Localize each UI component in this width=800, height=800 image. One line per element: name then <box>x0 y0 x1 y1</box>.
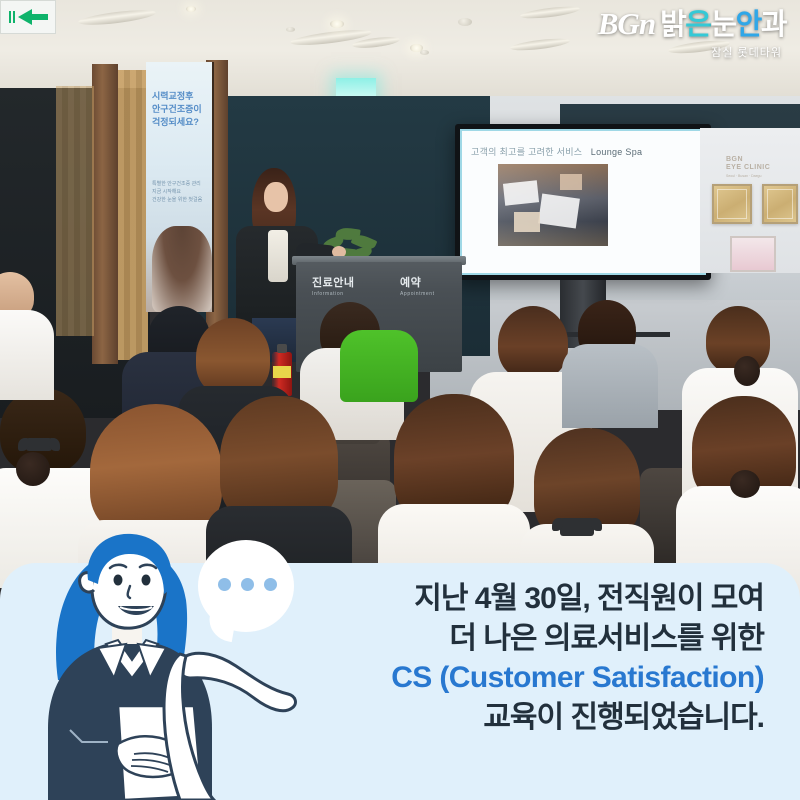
smoke-detector <box>420 50 429 55</box>
downlight <box>186 6 196 12</box>
presentation-slide: 고객의 최고를 고려한 서비스 Lounge Spa <box>460 129 706 275</box>
poster-headline: 시력교정후안구건조증이걱정되세요? <box>152 90 210 129</box>
hair-ribbon <box>26 438 52 451</box>
award-wall: BGN EYE CLINIC Seoul · Busan · Daegu <box>700 128 800 273</box>
exit-sign <box>0 0 56 34</box>
caption-line-2: 더 나은 의료서비스를 위한 <box>391 619 764 659</box>
award-brand-sub: Seoul · Busan · Daegu <box>726 174 761 178</box>
logo-name-korean: 밝은눈안과 <box>660 11 786 40</box>
wood-column <box>92 64 118 364</box>
caption-text-block: 지난 4월 30일, 전직원이 모여 더 나은 의료서비스를 위한 CS (Cu… <box>391 579 764 737</box>
eye-right <box>142 575 151 586</box>
downlight <box>330 20 344 28</box>
audience-head <box>498 306 568 380</box>
slide-shape <box>538 194 580 229</box>
slide-title: 고객의 최고를 고려한 서비스 Lounge Spa <box>471 145 696 158</box>
caption-line-4: 교육이 진행되었습니다. <box>391 698 764 738</box>
slide-shape <box>503 180 539 205</box>
caption-line-1: 지난 4월 30일, 전직원이 모여 <box>391 579 764 619</box>
logo-brandmark: BGn <box>598 8 655 39</box>
podium-sign-information: 진료안내 Information <box>312 274 354 297</box>
audience-head <box>196 318 270 396</box>
caption-line-3-accent: CS (Customer Satisfaction) <box>391 658 764 698</box>
audience-body <box>562 344 658 428</box>
award-plaque <box>762 184 798 224</box>
audience-head <box>90 404 222 538</box>
social-card: 시력교정후안구건조증이걱정되세요? 특별한 안구건조증 관리지금 시작해요건강한… <box>0 0 800 800</box>
slide-title-kr: 고객의 최고를 고려한 서비스 <box>471 147 582 157</box>
tv-display: 고객의 최고를 고려한 서비스 Lounge Spa <box>455 124 711 280</box>
podium-sign-en: Information <box>312 291 354 297</box>
award-brand: BGN <box>726 156 743 163</box>
slide-shape <box>560 174 582 190</box>
logo-main: BGn 밝은눈안과 <box>598 8 786 40</box>
slide-shape <box>514 212 540 232</box>
audience-head <box>220 396 338 524</box>
presenter-shirt <box>268 230 288 282</box>
podium-sign-en: Appointment <box>400 291 435 297</box>
presenter-illustration <box>30 528 300 800</box>
logo-char-teal: 은 <box>685 9 710 41</box>
logo-branch: 잠실 롯데타워 <box>598 44 786 60</box>
audience-hair-bun <box>734 356 760 386</box>
eye-left <box>114 575 123 586</box>
audience-green-jacket <box>340 330 418 402</box>
wood-panel <box>56 86 94 336</box>
extinguisher-label <box>273 366 291 378</box>
podium-sign-kr: 예약 <box>400 274 435 290</box>
woman-figure-svg <box>30 528 300 800</box>
audience-hair-bun <box>16 452 50 486</box>
podium-sign-kr: 진료안내 <box>312 274 354 290</box>
slide-image <box>498 164 608 246</box>
audience-hair-bun <box>730 470 760 498</box>
exit-arrow-icon <box>6 6 50 28</box>
award-wall-logo: BGN EYE CLINIC Seoul · Busan · Daegu <box>726 156 770 180</box>
smoke-detector <box>286 27 295 32</box>
logo-char-blue: 안 <box>736 9 761 41</box>
podium-sign-appointment: 예약 Appointment <box>400 274 435 297</box>
audience-white-coat <box>0 310 54 400</box>
framed-certificate <box>730 236 776 272</box>
brand-logo: BGn 밝은눈안과 잠실 롯데타워 <box>598 8 786 60</box>
wood-panel <box>118 70 148 360</box>
award-plaque <box>712 184 752 224</box>
slide-title-en: Lounge Spa <box>591 147 643 157</box>
smoke-detector <box>458 18 472 26</box>
wall-poster: 시력교정후안구건조증이걱정되세요? 특별한 안구건조증 관리지금 시작해요건강한… <box>146 62 214 312</box>
poster-subtext: 특별한 안구건조증 관리지금 시작해요건강한 눈을 위한 첫걸음 <box>152 180 208 204</box>
award-brand-line2: EYE CLINIC <box>726 164 770 171</box>
presenter-face <box>264 182 288 212</box>
poster-figure <box>152 226 212 312</box>
hair-ribbon <box>560 518 594 536</box>
